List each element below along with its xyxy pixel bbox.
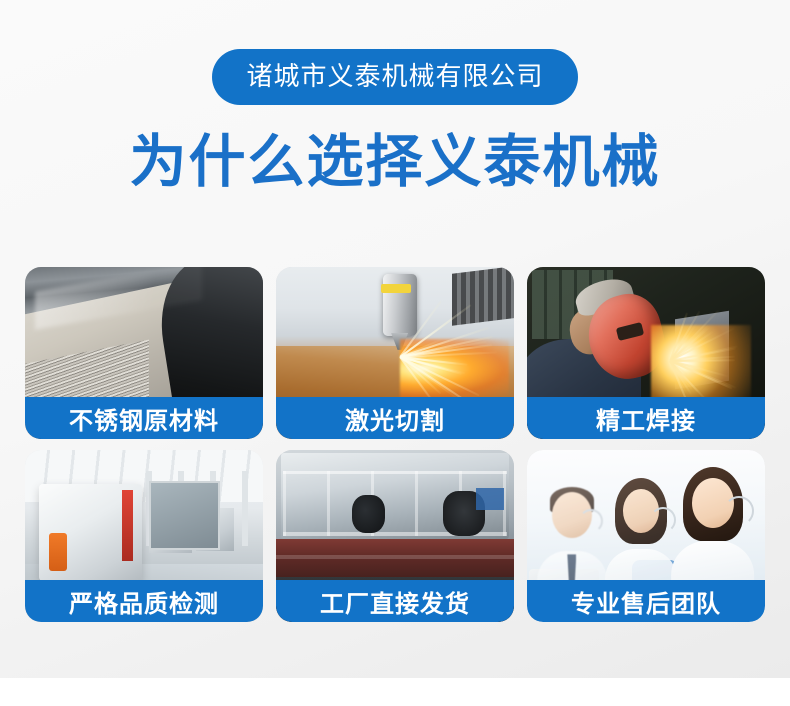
feature-card[interactable]: 专业售后团队 <box>527 450 765 622</box>
card-caption: 不锈钢原材料 <box>25 397 263 439</box>
card-caption: 激光切割 <box>276 397 514 439</box>
feature-card[interactable]: 工厂直接发货 <box>276 450 514 622</box>
banner-header: 诸城市义泰机械有限公司 为什么选择义泰机械 <box>0 0 790 193</box>
card-caption: 严格品质检测 <box>25 580 263 622</box>
feature-card[interactable]: 激光切割 <box>276 267 514 439</box>
feature-card[interactable]: 严格品质检测 <box>25 450 263 622</box>
feature-card-grid: 不锈钢原材料 激光切割 <box>25 267 765 622</box>
banner-headline: 为什么选择义泰机械 <box>0 133 790 193</box>
promo-banner: 诸城市义泰机械有限公司 为什么选择义泰机械 不锈钢原材料 激光切割 <box>0 0 790 706</box>
card-caption: 精工焊接 <box>527 397 765 439</box>
company-name-badge: 诸城市义泰机械有限公司 <box>212 49 577 105</box>
headset-icon <box>724 496 754 526</box>
card-caption: 工厂直接发货 <box>276 580 514 622</box>
blue-panel <box>476 488 505 510</box>
card-caption: 专业售后团队 <box>527 580 765 622</box>
cnc-machine-window <box>149 481 220 550</box>
company-badge-row: 诸城市义泰机械有限公司 <box>0 49 790 105</box>
orange-stool <box>49 533 67 571</box>
truck-trailer-bed <box>276 539 514 580</box>
feature-card[interactable]: 精工焊接 <box>527 267 765 439</box>
feature-card[interactable]: 不锈钢原材料 <box>25 267 263 439</box>
equipment-motor-left <box>352 495 385 533</box>
